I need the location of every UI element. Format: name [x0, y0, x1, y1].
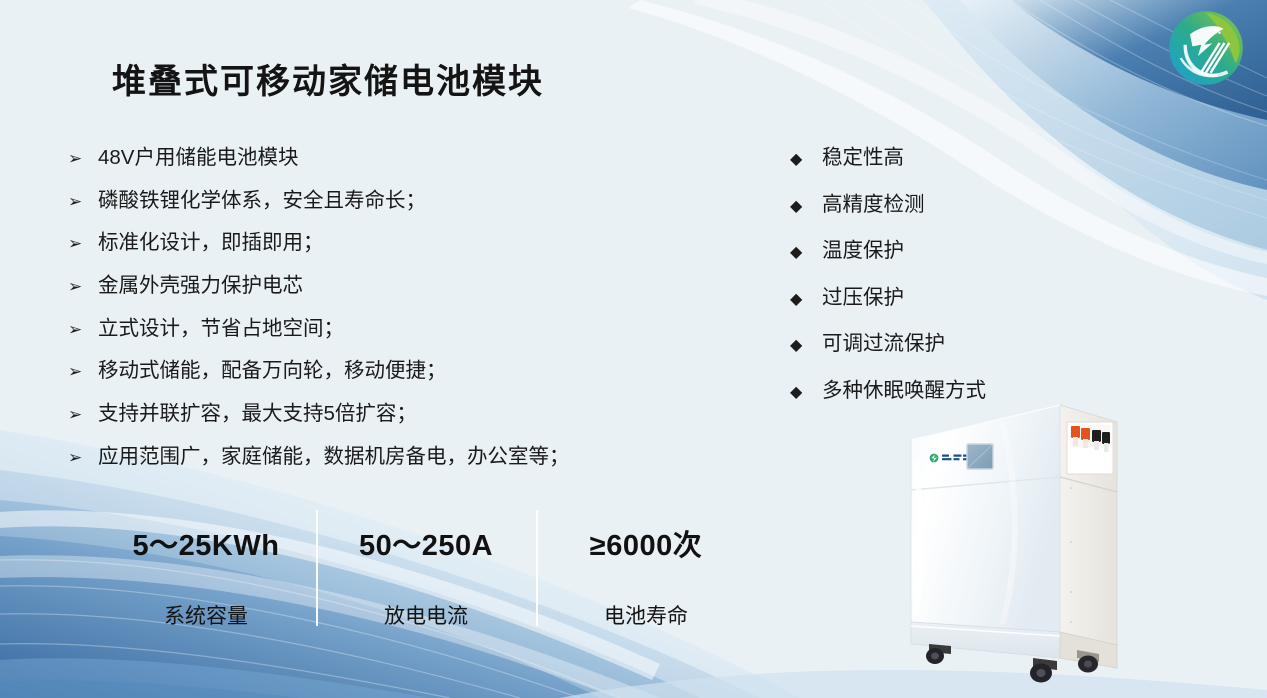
list-item: ➢ 立式设计，节省占地空间；	[68, 319, 688, 340]
list-item: ◆ 高精度检测	[790, 195, 1090, 216]
list-item: ◆ 过压保护	[790, 288, 1090, 309]
list-item: ➢ 磷酸铁锂化学体系，安全且寿命长；	[68, 191, 688, 212]
company-logo-icon	[1166, 8, 1246, 88]
list-item-label: 磷酸铁锂化学体系，安全且寿命长；	[98, 191, 688, 212]
arrow-bullet-icon: ➢	[68, 364, 98, 381]
list-item-label: 可调过流保护	[822, 334, 1090, 355]
list-item-label: 支持并联扩容，最大支持5倍扩容；	[98, 404, 688, 425]
arrow-bullet-icon: ➢	[68, 151, 98, 168]
stat-value: 50～250A	[359, 522, 493, 564]
diamond-bullet-icon: ◆	[790, 384, 822, 400]
list-item-label: 过压保护	[822, 288, 1090, 309]
product-photo	[855, 392, 1155, 692]
list-item-label: 稳定性高	[822, 148, 1090, 169]
list-item-label: 高精度检测	[822, 195, 1090, 216]
stat-system-capacity: 5～25KWh 系统容量	[96, 508, 316, 628]
list-item: ➢ 金属外壳强力保护电芯	[68, 276, 688, 297]
list-item: ➢ 应用范围广，家庭储能，数据机房备电，办公室等；	[68, 447, 688, 468]
list-item-label: 48V户用储能电池模块	[98, 148, 688, 169]
diamond-bullet-icon: ◆	[790, 244, 822, 260]
list-item: ➢ 支持并联扩容，最大支持5倍扩容；	[68, 404, 688, 425]
feature-list-right: ◆ 稳定性高 ◆ 高精度检测 ◆ 温度保护 ◆ 过压保护 ◆ 可调过流保护 ◆ …	[790, 148, 1090, 427]
list-item: ◆ 可调过流保护	[790, 334, 1090, 355]
feature-list-left: ➢ 48V户用储能电池模块 ➢ 磷酸铁锂化学体系，安全且寿命长； ➢ 标准化设计…	[68, 148, 688, 490]
stat-value: ≥6000次	[590, 522, 702, 564]
arrow-bullet-icon: ➢	[68, 236, 98, 253]
slide-root: 堆叠式可移动家储电池模块 ➢ 48V户用储能电池模块 ➢ 磷酸铁锂化学体系，安全…	[0, 0, 1267, 698]
stat-label: 电池寿命	[604, 600, 688, 630]
diamond-bullet-icon: ◆	[790, 291, 822, 307]
stat-label: 系统容量	[164, 600, 248, 630]
list-item-label: 立式设计，节省占地空间；	[98, 319, 688, 340]
stat-value: 5～25KWh	[133, 522, 280, 564]
list-item-label: 金属外壳强力保护电芯	[98, 276, 688, 297]
list-item: ➢ 标准化设计，即插即用；	[68, 233, 688, 254]
list-item: ➢ 48V户用储能电池模块	[68, 148, 688, 169]
stat-label: 放电电流	[384, 600, 468, 630]
list-item: ◆ 温度保护	[790, 241, 1090, 262]
diamond-bullet-icon: ◆	[790, 198, 822, 214]
diamond-bullet-icon: ◆	[790, 151, 822, 167]
list-item: ➢ 移动式储能，配备万向轮，移动便捷；	[68, 361, 688, 382]
page-title: 堆叠式可移动家储电池模块	[112, 54, 544, 103]
stat-battery-life: ≥6000次 电池寿命	[536, 508, 756, 628]
arrow-bullet-icon: ➢	[68, 194, 98, 211]
list-item-label: 应用范围广，家庭储能，数据机房备电，办公室等；	[98, 447, 688, 468]
spec-stats-row: 5～25KWh 系统容量 50～250A 放电电流 ≥6000次 电池寿命	[96, 508, 756, 628]
stat-discharge-current: 50～250A 放电电流	[316, 508, 536, 628]
arrow-bullet-icon: ➢	[68, 279, 98, 296]
arrow-bullet-icon: ➢	[68, 322, 98, 339]
list-item-label: 标准化设计，即插即用；	[98, 233, 688, 254]
list-item: ◆ 稳定性高	[790, 148, 1090, 169]
list-item-label: 移动式储能，配备万向轮，移动便捷；	[98, 361, 688, 382]
list-item-label: 温度保护	[822, 241, 1090, 262]
diamond-bullet-icon: ◆	[790, 337, 822, 353]
arrow-bullet-icon: ➢	[68, 407, 98, 424]
arrow-bullet-icon: ➢	[68, 450, 98, 467]
